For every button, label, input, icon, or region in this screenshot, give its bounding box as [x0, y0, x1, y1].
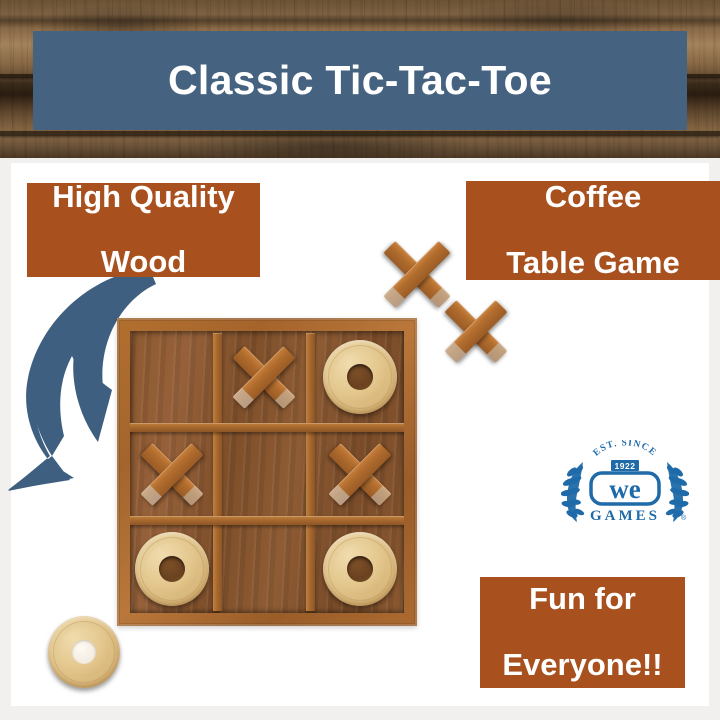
grid-stick-horizontal: [130, 516, 404, 525]
o-piece: [48, 616, 120, 688]
logo-est-text: EST. SINCE: [592, 440, 659, 459]
grid-stick-vertical: [306, 333, 315, 611]
callout-line-1: High Quality: [44, 181, 243, 214]
board-cell-1-1: [222, 432, 306, 516]
grid-stick-vertical: [213, 333, 222, 611]
o-piece: [323, 340, 397, 414]
page-title: Classic Tic-Tac-Toe: [168, 60, 552, 101]
board-cell-1-2: [315, 432, 404, 516]
board-cell-2-1: [222, 525, 306, 613]
x-piece: [231, 344, 297, 410]
board-cell-2-0: [130, 525, 213, 613]
wood-background: Classic Tic-Tac-Toe: [0, 0, 720, 158]
callout-line-1: Fun for: [494, 583, 670, 616]
callout-line-1: Coffee: [498, 181, 687, 214]
callout-coffee-table-game: CoffeeTable Game: [466, 181, 720, 280]
o-piece: [135, 532, 209, 606]
loose-o-piece-1: [48, 616, 120, 688]
board-cell-2-2: [315, 525, 404, 613]
board-well: [130, 331, 404, 613]
logo-we-text: we: [609, 474, 640, 504]
logo-games-text: GAMES: [590, 508, 660, 524]
title-banner: Classic Tic-Tac-Toe: [33, 31, 687, 130]
loose-x-piece-2: [443, 298, 509, 364]
tic-tac-toe-board: [117, 318, 417, 626]
o-ring: [328, 537, 392, 601]
laurel-left: [561, 462, 585, 522]
grid-stick-horizontal: [130, 423, 404, 432]
board-cell-1-0: [130, 432, 213, 516]
board-cell-0-2: [315, 331, 404, 423]
callout-line-2: Everyone!!: [494, 649, 670, 682]
o-ring: [53, 621, 115, 683]
logo-registered-mark: ®: [681, 514, 687, 522]
x-piece: [443, 298, 509, 364]
o-piece: [323, 532, 397, 606]
board-cell-0-0: [130, 331, 213, 423]
o-ring: [328, 345, 392, 409]
callout-text: High QualityWood: [36, 181, 251, 280]
board-cell-0-1: [222, 331, 306, 423]
plank-seam: [0, 131, 720, 136]
x-piece: [327, 441, 393, 507]
callout-fun-for-everyone: Fun forEveryone!!: [480, 577, 685, 688]
we-games-logo: EST. SINCE 1922 we GAMES ®: [561, 440, 689, 536]
callout-text: CoffeeTable Game: [490, 181, 695, 280]
laurel-right: [665, 462, 689, 522]
o-ring: [140, 537, 204, 601]
callout-text: Fun forEveryone!!: [486, 583, 678, 682]
callout-line-2: Table Game: [498, 247, 687, 280]
callout-high-quality-wood: High QualityWood: [27, 183, 260, 277]
x-piece: [139, 441, 205, 507]
callout-line-2: Wood: [44, 246, 243, 279]
product-marketing-image: Classic Tic-Tac-Toe High QualityWood Cof…: [0, 0, 720, 720]
logo-year-text: 1922: [615, 461, 636, 471]
